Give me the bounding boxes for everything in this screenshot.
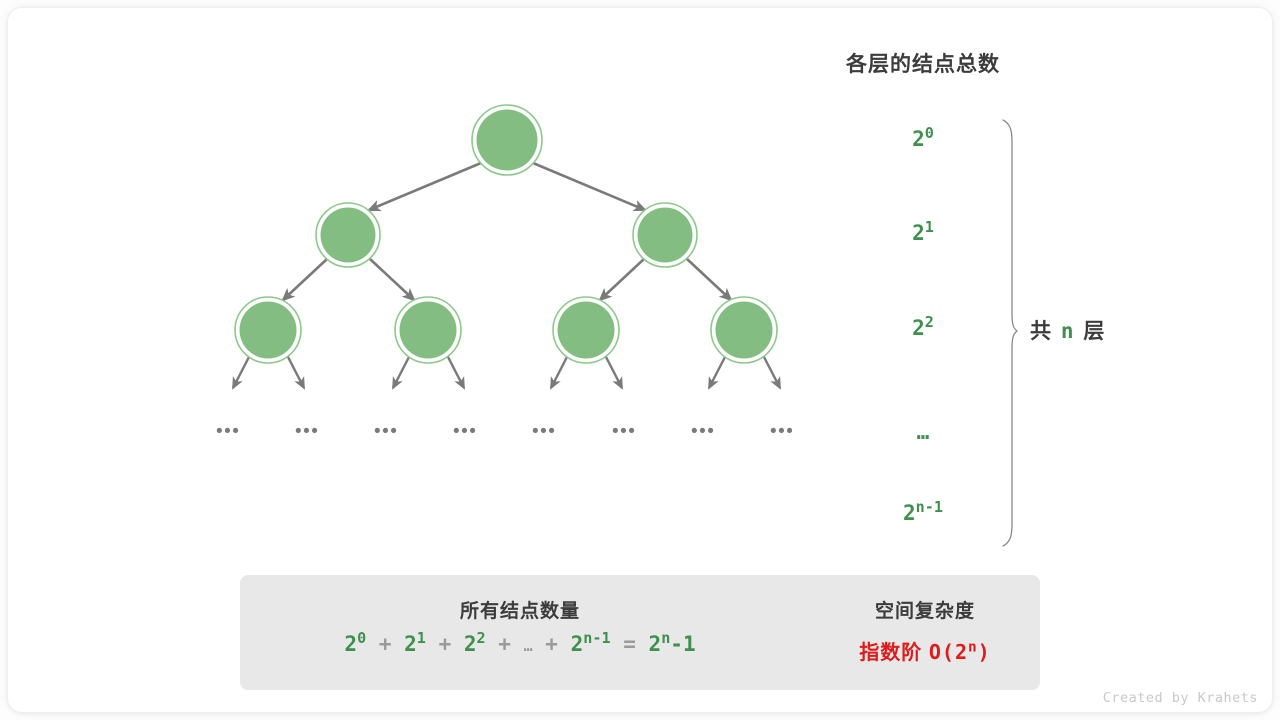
level-count-last-base: 2 xyxy=(903,501,916,525)
leaf-ellipsis: ••• xyxy=(770,421,794,443)
level-count-1: 21 xyxy=(843,221,1003,245)
formula-ellipsis: … xyxy=(524,637,533,655)
formula-term-0: 20 xyxy=(344,632,366,656)
level-count-1-exponent: 1 xyxy=(925,218,934,236)
level-count-0-exponent: 0 xyxy=(925,124,934,142)
total-layers-label: 共 n 层 xyxy=(1030,315,1106,345)
summary-right-title: 空间复杂度 xyxy=(810,596,1040,623)
tree-node xyxy=(711,297,777,363)
formula-equals: = xyxy=(623,632,636,656)
total-layers-variable: n xyxy=(1061,319,1076,343)
summary-left-title: 所有结点数量 xyxy=(240,596,800,623)
total-layers-suffix: 层 xyxy=(1083,320,1106,343)
level-count-0: 20 xyxy=(843,127,1003,151)
tree-node xyxy=(395,297,461,363)
tree-node xyxy=(633,203,697,267)
right-column-title-text: 各层的结点总数 xyxy=(846,48,1000,78)
level-brace xyxy=(1003,120,1017,546)
formula-last-term: 2n-1 xyxy=(571,632,611,656)
level-count-2-exponent: 2 xyxy=(925,313,934,331)
level-count-1-base: 2 xyxy=(912,221,925,245)
formula-result: 2n-1 xyxy=(649,632,696,656)
tree-node xyxy=(316,203,380,267)
leaf-ellipsis: ••• xyxy=(216,421,240,443)
tree-node-root xyxy=(472,105,542,175)
formula-term-2: 22 xyxy=(464,632,486,656)
complexity-notation: O(2n) xyxy=(929,640,991,664)
leaf-ellipsis: ••• xyxy=(453,421,477,443)
level-count-2: 22 xyxy=(843,316,1003,340)
complexity-label: 指数阶 xyxy=(859,642,922,664)
formula-plus: + xyxy=(439,632,452,656)
formula-term-1: 21 xyxy=(404,632,426,656)
right-column-title: 各层的结点总数 xyxy=(0,48,1280,78)
total-layers-prefix: 共 xyxy=(1030,320,1053,343)
summary-left-title-text: 所有结点数量 xyxy=(460,601,580,622)
leaf-ellipsis: ••• xyxy=(691,421,715,443)
level-count-last-exponent: n-1 xyxy=(916,498,943,516)
formula-plus: + xyxy=(545,632,558,656)
tree-node xyxy=(553,297,619,363)
level-count-last: 2n-1 xyxy=(843,501,1003,525)
leaf-ellipsis: ••• xyxy=(295,421,319,443)
tree-edges-level-2 xyxy=(233,355,780,388)
tree-nodes xyxy=(235,105,777,363)
leaf-ellipsis-row: ••• ••• ••• ••• ••• ••• ••• ••• xyxy=(0,421,1280,445)
leaf-ellipsis: ••• xyxy=(374,421,398,443)
leaf-ellipsis: ••• xyxy=(532,421,556,443)
tree-node xyxy=(235,297,301,363)
credit-text: Created by Krahets xyxy=(1103,690,1258,706)
level-count-0-base: 2 xyxy=(912,127,925,151)
formula-plus: + xyxy=(379,632,392,656)
summary-right-value: 指数阶 O(2n) xyxy=(810,636,1040,665)
leaf-ellipsis: ••• xyxy=(612,421,636,443)
summary-formula: 20 + 21 + 22 + … + 2n-1 = 2n-1 xyxy=(240,632,800,656)
summary-right-title-text: 空间复杂度 xyxy=(875,601,975,622)
level-count-2-base: 2 xyxy=(912,316,925,340)
formula-plus: + xyxy=(498,632,511,656)
diagram-canvas: 各层的结点总数 20 21 22 … 2n-1 共 n 层 ••• ••• ••… xyxy=(0,0,1280,720)
